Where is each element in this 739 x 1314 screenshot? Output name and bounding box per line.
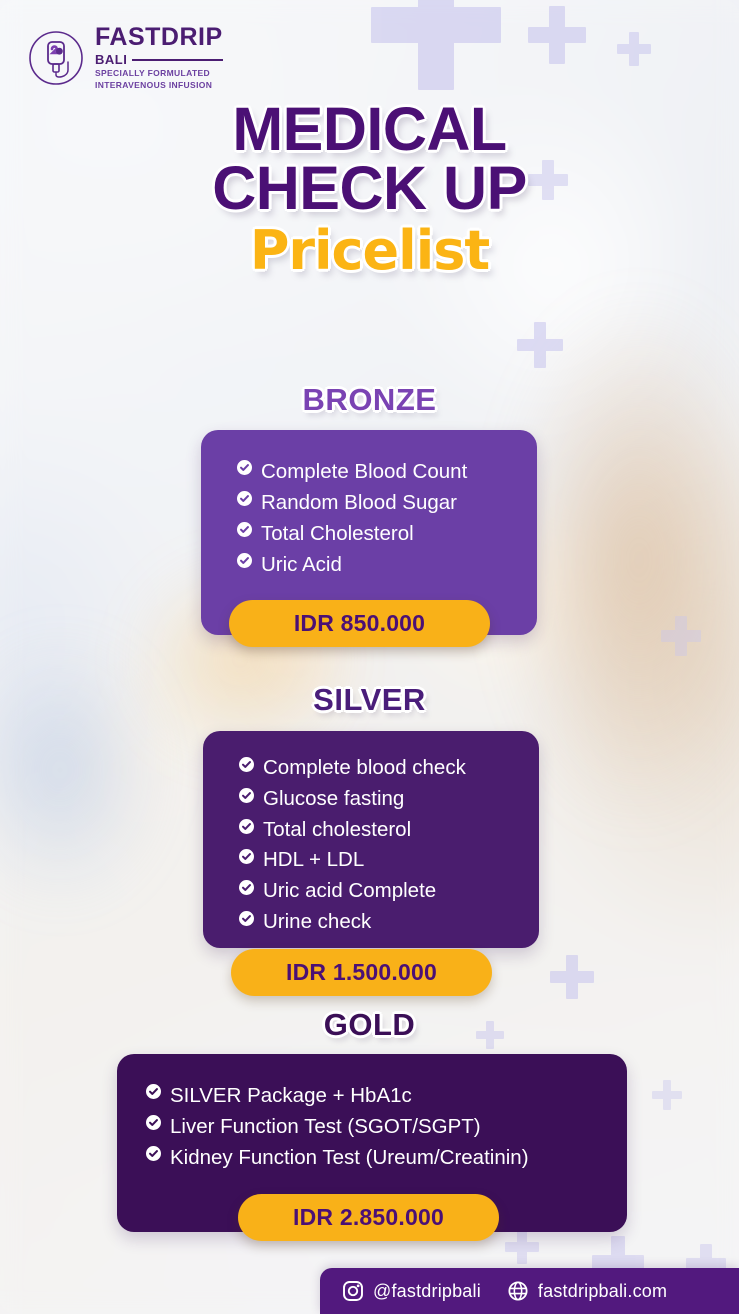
list-item: HDL + LDL bbox=[239, 845, 539, 876]
website-url: fastdripbali.com bbox=[538, 1281, 667, 1302]
item-label: SILVER Package + HbA1c bbox=[170, 1080, 412, 1111]
list-item: Glucose fasting bbox=[239, 784, 539, 815]
package-heading-silver: SILVER bbox=[0, 684, 739, 715]
website-contact[interactable]: fastdripbali.com bbox=[507, 1280, 667, 1302]
check-circle-icon bbox=[146, 1084, 161, 1099]
check-circle-icon bbox=[237, 460, 252, 475]
check-circle-icon bbox=[239, 849, 254, 864]
brand-name: FASTDRIP bbox=[95, 25, 223, 50]
list-item: Random Blood Sugar bbox=[237, 487, 537, 518]
item-label: Glucose fasting bbox=[263, 784, 404, 815]
item-label: Uric acid Complete bbox=[263, 876, 436, 907]
item-label: Urine check bbox=[263, 907, 371, 938]
list-item: Urine check bbox=[239, 907, 539, 938]
list-item: Total cholesterol bbox=[239, 815, 539, 846]
globe-icon bbox=[507, 1280, 529, 1302]
list-item: Liver Function Test (SGOT/SGPT) bbox=[146, 1111, 627, 1142]
instagram-contact[interactable]: @fastdripbali bbox=[342, 1280, 481, 1302]
item-label: Kidney Function Test (Ureum/Creatinin) bbox=[170, 1142, 529, 1173]
contact-footer-bar: @fastdripbali fastdripbali.com bbox=[320, 1268, 739, 1314]
check-circle-icon bbox=[239, 819, 254, 834]
package-heading-gold: GOLD bbox=[0, 1009, 739, 1040]
package-items-bronze: Complete Blood Count Random Blood Sugar … bbox=[201, 430, 537, 581]
check-circle-icon bbox=[237, 553, 252, 568]
item-label: HDL + LDL bbox=[263, 845, 364, 876]
brand-tagline-2: INTERAVENOUS INFUSION bbox=[95, 80, 223, 91]
item-label: Complete Blood Count bbox=[261, 456, 467, 487]
check-circle-icon bbox=[146, 1146, 161, 1161]
check-circle-icon bbox=[237, 491, 252, 506]
list-item: Kidney Function Test (Ureum/Creatinin) bbox=[146, 1142, 627, 1173]
check-circle-icon bbox=[239, 788, 254, 803]
package-card-silver: Complete blood check Glucose fasting Tot… bbox=[203, 731, 539, 948]
check-circle-icon bbox=[146, 1115, 161, 1130]
list-item: Total Cholesterol bbox=[237, 518, 537, 549]
page-title: MEDICAL CHECK UP Pricelist bbox=[0, 100, 739, 280]
list-item: Complete Blood Count bbox=[237, 456, 537, 487]
logo-divider bbox=[132, 59, 222, 61]
package-items-silver: Complete blood check Glucose fasting Tot… bbox=[203, 731, 539, 938]
brand-location: BALI bbox=[95, 52, 127, 67]
title-line-1: MEDICAL bbox=[0, 100, 739, 159]
check-circle-icon bbox=[239, 757, 254, 772]
iv-drip-icon bbox=[28, 30, 84, 86]
check-circle-icon bbox=[239, 911, 254, 926]
list-item: Complete blood check bbox=[239, 753, 539, 784]
price-badge-silver: IDR 1.500.000 bbox=[231, 949, 492, 996]
instagram-handle: @fastdripbali bbox=[373, 1281, 481, 1302]
list-item: Uric acid Complete bbox=[239, 876, 539, 907]
item-label: Complete blood check bbox=[263, 753, 466, 784]
check-circle-icon bbox=[239, 880, 254, 895]
item-label: Liver Function Test (SGOT/SGPT) bbox=[170, 1111, 481, 1142]
item-label: Total Cholesterol bbox=[261, 518, 414, 549]
item-label: Uric Acid bbox=[261, 549, 342, 580]
package-heading-bronze: BRONZE bbox=[0, 384, 739, 415]
item-label: Total cholesterol bbox=[263, 815, 411, 846]
instagram-icon bbox=[342, 1280, 364, 1302]
title-subtitle: Pricelist bbox=[0, 223, 739, 280]
item-label: Random Blood Sugar bbox=[261, 487, 457, 518]
package-items-gold: SILVER Package + HbA1c Liver Function Te… bbox=[117, 1054, 627, 1173]
check-circle-icon bbox=[237, 522, 252, 537]
list-item: Uric Acid bbox=[237, 549, 537, 580]
price-badge-gold: IDR 2.850.000 bbox=[238, 1194, 499, 1241]
brand-tagline-1: SPECIALLY FORMULATED bbox=[95, 68, 223, 79]
list-item: SILVER Package + HbA1c bbox=[146, 1080, 627, 1111]
brand-logo: FASTDRIP BALI SPECIALLY FORMULATED INTER… bbox=[28, 25, 223, 90]
title-line-2: CHECK UP bbox=[0, 159, 739, 218]
price-badge-bronze: IDR 850.000 bbox=[229, 600, 490, 647]
